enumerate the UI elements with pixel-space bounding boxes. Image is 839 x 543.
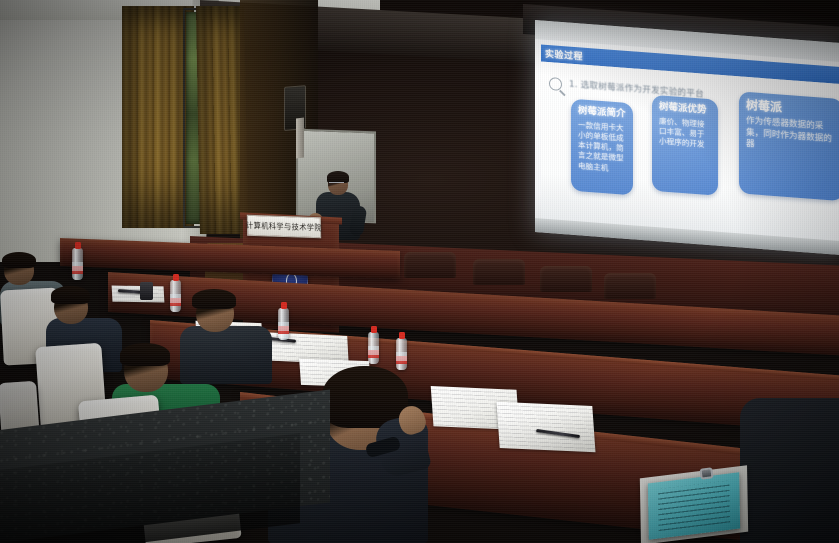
- slide-card-1: 树莓派简介 一款信用卡大小的单板低成本计算机，简言之就是微型电脑主机: [571, 99, 633, 196]
- paper-sheet: [112, 286, 165, 303]
- slide-card-2-text: 廉价、物理接口丰富、易于小程序的开发: [659, 117, 712, 151]
- slide-card-2: 树莓派优势 廉价、物理接口丰富、易于小程序的开发: [652, 95, 718, 196]
- speaker-bracket: [296, 117, 304, 158]
- audience-member-3-hair: [120, 343, 170, 366]
- water-bottle: [396, 338, 407, 370]
- slide-card-1-text: 一款信用卡大小的单板低成本计算机，简言之就是微型电脑主机: [578, 121, 627, 175]
- glasses-icon: [329, 182, 344, 186]
- teal-booklet-text: [658, 481, 730, 532]
- empty-chair-3: [540, 266, 592, 292]
- water-bottle: [278, 308, 289, 340]
- slide-card-1-title: 树莓派简介: [578, 106, 627, 120]
- slide-card-3-text: 作为传感器数据的采集，同时作为器数据的器: [746, 116, 837, 157]
- teal-booklet: [648, 472, 740, 540]
- magnifier-icon: [549, 77, 562, 91]
- audience-member-6-torso: [740, 398, 839, 543]
- water-bottle: [72, 248, 83, 280]
- audience-member-4-hair: [192, 289, 236, 309]
- empty-chair-4: [604, 273, 656, 299]
- slide-card-2-title: 树莓派优势: [659, 102, 712, 116]
- water-bottle: [170, 280, 181, 312]
- water-bottle: [368, 332, 379, 364]
- audience-member-2-hair: [51, 286, 90, 304]
- slide-card-3: 树莓派 作为传感器数据的采集，同时作为器数据的器: [739, 91, 839, 201]
- projection-screen: 实验过程 1. 选取树莓派作为开发实验的平台 树莓派简介 一款信用卡大小的单板低…: [535, 20, 839, 255]
- department-nameplate: 计算机科学与技术学院: [247, 215, 321, 239]
- paper-sheet: [497, 402, 596, 452]
- slide-title: 实验过程: [545, 47, 583, 63]
- binder-clip-icon: [699, 467, 713, 480]
- cup: [140, 282, 153, 300]
- empty-chair-1: [404, 252, 456, 278]
- slide-card-3-title: 树莓派: [746, 99, 837, 119]
- empty-chair-2: [473, 259, 525, 285]
- audience-member-4-torso: [180, 326, 272, 384]
- department-nameplate-text: 计算机科学与技术学院: [246, 220, 322, 233]
- lecture-hall-photo: 实验过程 1. 选取树莓派作为开发实验的平台 树莓派简介 一款信用卡大小的单板低…: [0, 0, 839, 543]
- projection-screen-assembly: 实验过程 1. 选取树莓派作为开发实验的平台 树莓派简介 一款信用卡大小的单板低…: [523, 4, 839, 254]
- audience-member-1-hair: [2, 252, 36, 268]
